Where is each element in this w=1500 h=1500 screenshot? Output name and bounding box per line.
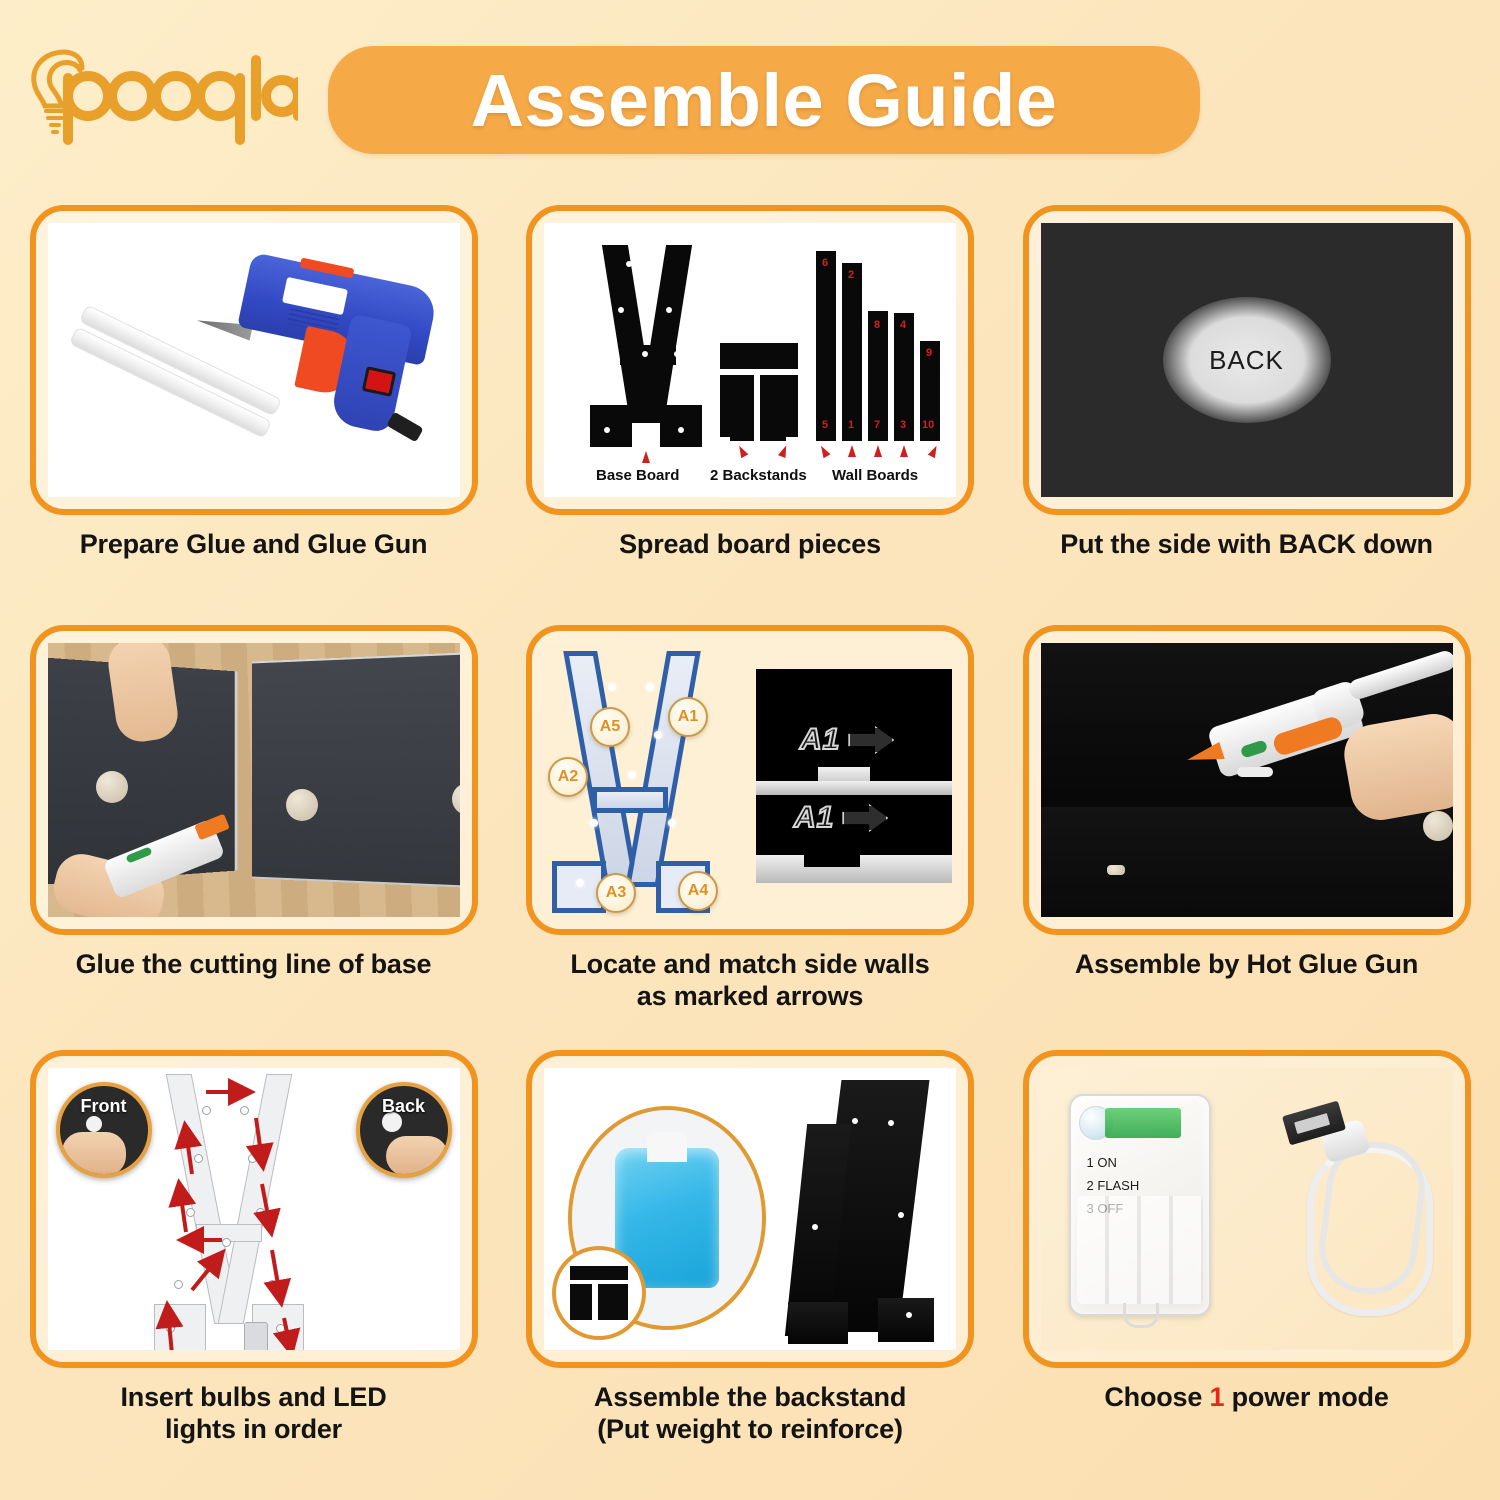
step-1-caption: Prepare Glue and Glue Gun bbox=[80, 529, 428, 561]
backstand-right-foot bbox=[878, 1298, 934, 1342]
steps-row-1: Prepare Glue and Glue Gun bbox=[0, 205, 1500, 625]
wall-marker-a1: A1 bbox=[668, 697, 708, 737]
back-board-photo: BACK bbox=[1041, 223, 1453, 497]
backstand-right-part bbox=[598, 1284, 628, 1320]
bulb-hole bbox=[590, 819, 598, 827]
steps-row-3: Front Back Insert bulbs and LED lig bbox=[0, 1050, 1500, 1480]
battery-box: 1 ON 2 FLASH 3 OFF bbox=[1069, 1094, 1211, 1316]
bulb-icon bbox=[86, 1116, 102, 1132]
magnet-icon bbox=[286, 789, 318, 821]
glue-gun-photo bbox=[48, 223, 460, 497]
letter-floor bbox=[1041, 807, 1453, 917]
backstand-piece-closeup bbox=[552, 1246, 646, 1340]
a1-label: A1 bbox=[794, 801, 834, 835]
glue-gun-cable-icon bbox=[386, 412, 423, 443]
steps-row-2: Glue the cutting line of base bbox=[0, 625, 1500, 1050]
page-title-banner: Assemble Guide bbox=[328, 46, 1200, 154]
bulb-hole bbox=[668, 819, 676, 827]
step-9-caption-prefix: Choose bbox=[1104, 1382, 1209, 1412]
step-card-9: 1 ON 2 FLASH 3 OFF bbox=[1019, 1050, 1474, 1480]
wall-board-number: 4 bbox=[900, 319, 906, 331]
step-1-image-frame bbox=[30, 205, 478, 515]
backstand-pointer-icon bbox=[736, 444, 749, 458]
a1-mark-upper: A1 bbox=[800, 723, 894, 757]
power-mode-flash: 2 FLASH bbox=[1087, 1175, 1140, 1198]
step-7-caption: Insert bulbs and LED lights in order bbox=[120, 1382, 386, 1446]
base-board-pointer-icon bbox=[642, 451, 650, 463]
step-7-caption-line2: lights in order bbox=[120, 1414, 386, 1446]
bulb-order-arrows bbox=[144, 1074, 314, 1350]
bulb-hole bbox=[628, 771, 636, 779]
bulb-hole bbox=[642, 351, 648, 357]
board-pieces-diagram: Base Board 2 Backstands 6 5 bbox=[544, 223, 956, 497]
backstand-assembly-photo bbox=[544, 1068, 956, 1350]
step-card-1: Prepare Glue and Glue Gun bbox=[26, 205, 481, 625]
step-7-image-frame: Front Back bbox=[30, 1050, 478, 1368]
dark-letter-interior-scene bbox=[1041, 643, 1453, 917]
power-options-photo: 1 ON 2 FLASH 3 OFF bbox=[1041, 1068, 1453, 1350]
step-9-caption: Choose 1 power mode bbox=[1104, 1382, 1388, 1414]
step-7-caption-line1: Insert bulbs and LED bbox=[120, 1382, 386, 1414]
wall-board bbox=[842, 263, 862, 441]
battery-cells bbox=[1077, 1196, 1203, 1304]
steps-grid: Prepare Glue and Glue Gun bbox=[0, 205, 1500, 1480]
bulb-hole bbox=[666, 307, 672, 313]
side-wall-matching-diagram: A5 A1 A2 A3 A4 A1 bbox=[544, 643, 956, 917]
bulb-order-diagram: Front Back bbox=[48, 1068, 460, 1350]
step-9-image-frame: 1 ON 2 FLASH 3 OFF bbox=[1023, 1050, 1471, 1368]
backstand-pointer-icon bbox=[778, 444, 790, 458]
base-board-right-foot bbox=[660, 405, 702, 447]
backstand-left-foot bbox=[788, 1302, 848, 1344]
bulb-hole bbox=[682, 397, 688, 403]
magnet-icon bbox=[1423, 811, 1453, 841]
battery-box-placement bbox=[244, 1322, 268, 1350]
letter-right-leg bbox=[625, 651, 701, 887]
bulb-hole bbox=[656, 261, 662, 267]
right-arrow-icon bbox=[848, 726, 894, 754]
step-card-5: A5 A1 A2 A3 A4 A1 bbox=[523, 625, 978, 1050]
wall-board-number: 9 bbox=[926, 347, 932, 359]
back-closeup-bubble: Back bbox=[356, 1082, 452, 1178]
step-8-caption-line1: Assemble the backstand bbox=[594, 1382, 906, 1414]
base-board-right-panel bbox=[251, 652, 459, 888]
wall-board-pointer-icon bbox=[818, 444, 831, 458]
spotlight-glow: BACK bbox=[1163, 297, 1331, 423]
bulb-hole bbox=[618, 307, 624, 313]
base-board-crossbar bbox=[620, 345, 676, 365]
wall-board-number: 2 bbox=[848, 269, 854, 281]
step-6-image-frame bbox=[1023, 625, 1471, 935]
base-board-left-foot bbox=[590, 405, 632, 447]
step-card-4: Glue the cutting line of base bbox=[26, 625, 481, 1050]
page-title: Assemble Guide bbox=[471, 58, 1058, 143]
backstand-piece bbox=[730, 423, 754, 441]
wall-board bbox=[816, 251, 836, 441]
step-5-caption-line1: Locate and match side walls bbox=[570, 949, 929, 981]
base-board-shape bbox=[586, 245, 706, 445]
wall-boards-label: Wall Boards bbox=[832, 467, 918, 484]
power-accessories-scene: 1 ON 2 FLASH 3 OFF bbox=[1041, 1068, 1453, 1350]
wall-board-number: 3 bbox=[900, 419, 906, 431]
letter-template-scene: Front Back bbox=[48, 1068, 460, 1350]
board-edge-slab bbox=[756, 781, 952, 795]
step-2-image-frame: Base Board 2 Backstands 6 5 bbox=[526, 205, 974, 515]
backstand-left-part bbox=[570, 1284, 592, 1320]
glue-cutting-line-photo bbox=[48, 643, 460, 917]
step-card-8: Assemble the backstand (Put weight to re… bbox=[523, 1050, 978, 1480]
wall-board-number: 10 bbox=[922, 419, 934, 431]
bulb-hole bbox=[604, 427, 610, 433]
step-4-image-frame bbox=[30, 625, 478, 935]
wall-board-number: 1 bbox=[848, 419, 854, 431]
bulb-hole bbox=[852, 1118, 858, 1124]
back-label: BACK bbox=[1209, 345, 1284, 376]
wall-board-pointer-icon bbox=[848, 445, 856, 457]
glue-spot bbox=[1107, 865, 1125, 875]
backstand-piece bbox=[760, 423, 786, 441]
step-4-caption: Glue the cutting line of base bbox=[76, 949, 432, 981]
board-pieces-group: Base Board 2 Backstands 6 5 bbox=[544, 223, 956, 497]
backstand-top-bar bbox=[570, 1266, 628, 1280]
battery-box-loop bbox=[1123, 1303, 1159, 1328]
wall-board-number: 8 bbox=[874, 319, 880, 331]
bulb-hole bbox=[646, 683, 654, 691]
bulb-hole bbox=[906, 1312, 912, 1318]
wall-board-pointer-icon bbox=[900, 445, 908, 457]
acrylic-letter-scene: A5 A1 A2 A3 A4 A1 bbox=[544, 643, 956, 917]
step-8-caption-line2: (Put weight to reinforce) bbox=[594, 1414, 906, 1446]
board-notch bbox=[804, 847, 860, 867]
power-mode-on: 1 ON bbox=[1087, 1152, 1140, 1175]
backstand-piece bbox=[720, 343, 798, 369]
step-8-caption: Assemble the backstand (Put weight to re… bbox=[594, 1382, 906, 1446]
wall-marker-a5: A5 bbox=[590, 707, 630, 747]
assembled-backstand bbox=[780, 1080, 940, 1350]
bulb-hole bbox=[674, 351, 680, 357]
wall-board-number: 5 bbox=[822, 419, 828, 431]
step-9-caption-suffix: power mode bbox=[1224, 1382, 1388, 1412]
bulb-hole bbox=[888, 1120, 894, 1126]
hand-icon bbox=[386, 1136, 448, 1176]
step-9-caption-highlight: 1 bbox=[1209, 1382, 1224, 1412]
backstand-piece-shape bbox=[570, 1266, 628, 1320]
right-arrow-icon bbox=[842, 804, 888, 832]
backstand-scene bbox=[544, 1068, 956, 1350]
bulb-hole bbox=[898, 1212, 904, 1218]
wall-marker-a3: A3 bbox=[596, 873, 636, 913]
bulb-hole bbox=[654, 731, 662, 739]
hand-icon bbox=[62, 1132, 126, 1176]
a1-mark-lower: A1 bbox=[794, 801, 888, 835]
glue-bead bbox=[1237, 767, 1273, 777]
step-3-caption: Put the side with BACK down bbox=[1060, 529, 1433, 561]
workbench-scene bbox=[48, 643, 460, 917]
bulb-hole bbox=[608, 683, 616, 691]
bulb-hole bbox=[602, 397, 608, 403]
circuit-board bbox=[1105, 1108, 1181, 1138]
back-label: Back bbox=[360, 1096, 448, 1117]
wall-board-number: 6 bbox=[822, 257, 828, 269]
step-5-caption-line2: as marked arrows bbox=[570, 981, 929, 1013]
step-2-caption: Spread board pieces bbox=[619, 529, 881, 561]
page-header: Assemble Guide bbox=[0, 0, 1500, 200]
lightbulb-icon bbox=[20, 48, 298, 152]
backstands-label: 2 Backstands bbox=[710, 467, 807, 484]
a1-match-detail-photo: A1 A1 bbox=[756, 669, 952, 883]
wall-board-number: 7 bbox=[874, 419, 880, 431]
letter-crossbar bbox=[592, 787, 668, 813]
wall-marker-a4: A4 bbox=[678, 871, 718, 911]
bulb-hole bbox=[812, 1224, 818, 1230]
hot-glue-assembly-photo bbox=[1041, 643, 1453, 917]
step-card-3: BACK Put the side with BACK down bbox=[1019, 205, 1474, 625]
letter-a-template bbox=[144, 1074, 314, 1350]
bulb-hole bbox=[610, 351, 616, 357]
brand-logo bbox=[20, 45, 300, 155]
magnet-icon bbox=[96, 771, 128, 803]
step-6-caption: Assemble by Hot Glue Gun bbox=[1075, 949, 1418, 981]
wall-board-pointer-icon bbox=[928, 444, 940, 458]
dark-board: BACK bbox=[1041, 223, 1453, 497]
front-closeup-bubble: Front bbox=[56, 1082, 152, 1178]
wall-board-pointer-icon bbox=[874, 445, 882, 457]
step-card-6: Assemble by Hot Glue Gun bbox=[1019, 625, 1474, 1050]
wall-marker-a2: A2 bbox=[548, 757, 588, 797]
a1-label: A1 bbox=[800, 723, 840, 757]
bulb-hole bbox=[576, 879, 584, 887]
step-5-image-frame: A5 A1 A2 A3 A4 A1 bbox=[526, 625, 974, 935]
step-3-image-frame: BACK bbox=[1023, 205, 1471, 515]
bulb-hole bbox=[678, 427, 684, 433]
step-8-image-frame bbox=[526, 1050, 974, 1368]
step-5-caption: Locate and match side walls as marked ar… bbox=[570, 949, 929, 1013]
step-card-7: Front Back Insert bulbs and LED lig bbox=[26, 1050, 481, 1480]
step-card-2: Base Board 2 Backstands 6 5 bbox=[523, 205, 978, 625]
base-board-label: Base Board bbox=[596, 467, 679, 484]
front-label: Front bbox=[60, 1096, 148, 1117]
usb-cable bbox=[1277, 1102, 1427, 1312]
bulb-hole bbox=[626, 261, 632, 267]
